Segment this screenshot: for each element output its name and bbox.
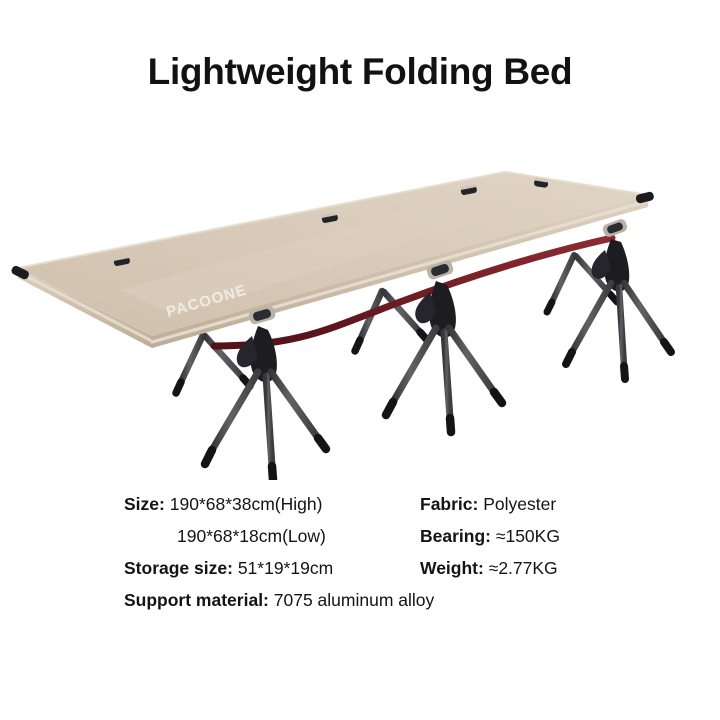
- leg-cluster-mid-front: [386, 259, 502, 432]
- leg-cluster-left-front: [205, 305, 326, 480]
- specification-list: Size: 190*68*38cm(High) 190*68*18cm(Low)…: [0, 492, 720, 642]
- spec-row-size: Size: 190*68*38cm(High): [124, 496, 322, 514]
- spec-value-bearing: ≈150KG: [496, 526, 560, 546]
- product-image: PACOONE: [0, 150, 720, 480]
- spec-value-weight: ≈2.77KG: [489, 558, 558, 578]
- spec-value-size-low: 190*68*18cm(Low): [177, 526, 326, 546]
- page-title: Lightweight Folding Bed: [0, 52, 720, 93]
- spec-value-fabric: Polyester: [483, 494, 556, 514]
- spec-row-fabric: Fabric: Polyester: [420, 496, 556, 514]
- spec-label-storage-size: Storage size:: [124, 558, 233, 578]
- spec-label-support-material: Support material:: [124, 590, 269, 610]
- spec-label-size: Size:: [124, 494, 165, 514]
- spec-row-weight: Weight: ≈2.77KG: [420, 560, 558, 578]
- spec-label-weight: Weight:: [420, 558, 484, 578]
- spec-value-storage-size: 51*19*19cm: [238, 558, 333, 578]
- spec-row-bearing: Bearing: ≈150KG: [420, 528, 560, 546]
- spec-row-storage-size: Storage size: 51*19*19cm: [124, 560, 333, 578]
- leg-cluster-mid-rear: [355, 291, 427, 351]
- spec-row-size-low: 190*68*18cm(Low): [177, 528, 326, 546]
- spec-label-fabric: Fabric:: [420, 494, 478, 514]
- spec-label-bearing: Bearing:: [420, 526, 491, 546]
- spec-row-support-material: Support material: 7075 aluminum alloy: [124, 592, 434, 610]
- spec-value-size: 190*68*38cm(High): [170, 494, 323, 514]
- spec-value-support-material: 7075 aluminum alloy: [274, 590, 435, 610]
- bed-fabric: [18, 172, 648, 348]
